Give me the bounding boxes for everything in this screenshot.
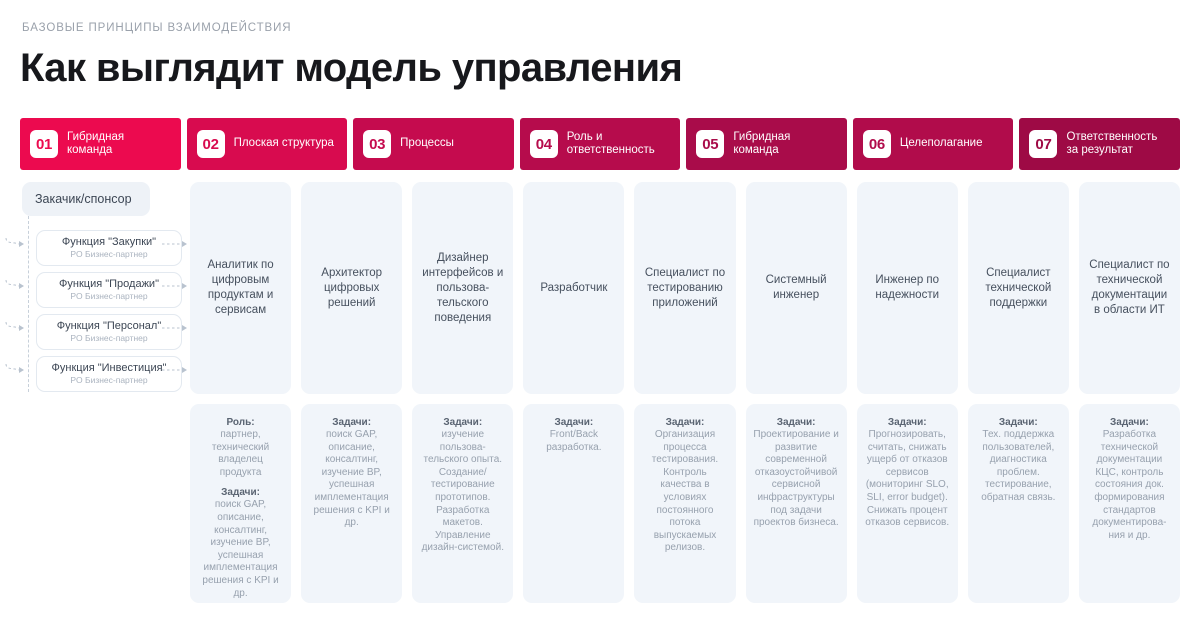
role-columns: Аналитик по цифровым продуктам и сервиса… [190, 182, 1180, 607]
role-title: Архитектор цифровых решений [310, 266, 393, 311]
task-section-heading: Задачи: [530, 416, 617, 429]
task-section-body: Прогнозировать, считать, снижать ущерб о… [864, 429, 951, 530]
role-column: РазработчикЗадачи:Front/Back разработка. [523, 182, 624, 607]
role-column: Системный инженерЗадачи:Проектирование и… [746, 182, 847, 607]
function-title: Функция "Инвестиция" [52, 362, 167, 375]
task-section: Задачи:Разработка технической документац… [1086, 416, 1173, 542]
role-card[interactable]: Разработчик [523, 182, 624, 394]
principle-number-badge: 07 [1029, 130, 1057, 158]
task-section-body: Проектирование и развитие современной от… [753, 429, 840, 530]
principle-label: Ответственность за результат [1066, 131, 1170, 158]
stakeholder-column: Закачик/спонсор Функция "Закупки"PO Бизн… [22, 182, 182, 407]
function-list: Функция "Закупки"PO Бизнес-партнерФункци… [36, 230, 182, 398]
role-card[interactable]: Архитектор цифровых решений [301, 182, 402, 394]
task-section-heading: Задачи: [1086, 416, 1173, 429]
task-section-heading: Задачи: [864, 416, 951, 429]
role-title: Дизайнер интерфейсов и пользова-тельског… [421, 251, 504, 326]
task-section: Задачи:Тех. поддержка пользователей, диа… [975, 416, 1062, 505]
function-box[interactable]: Функция "Закупки"PO Бизнес-партнер [36, 230, 182, 266]
task-card[interactable]: Задачи:Проектирование и развитие совреме… [746, 404, 847, 603]
task-section-body: Front/Back разработка. [530, 429, 617, 454]
task-section-heading: Задачи: [753, 416, 840, 429]
role-title: Специалист по технической документации в… [1088, 258, 1171, 318]
role-card[interactable]: Специалист по тестированию приложений [634, 182, 735, 394]
task-section-body: Тех. поддержка пользователей, диагностик… [975, 429, 1062, 505]
task-card[interactable]: Задачи:Разработка технической документац… [1079, 404, 1180, 603]
function-subtitle: PO Бизнес-партнер [70, 375, 147, 386]
task-card[interactable]: Задачи:изучение пользова-тельского опыта… [412, 404, 513, 603]
function-title: Функция "Закупки" [62, 236, 156, 249]
principle-number-badge: 02 [197, 130, 225, 158]
principle-card-03[interactable]: 03Процессы [353, 118, 514, 170]
task-section: Задачи:изучение пользова-тельского опыта… [419, 416, 506, 555]
task-section-body: поиск GAP, описание, консалтинг, изучени… [308, 429, 395, 530]
task-card[interactable]: Задачи:Организация процесса тестирования… [634, 404, 735, 603]
principle-number-badge: 06 [863, 130, 891, 158]
role-title: Инженер по надежности [866, 273, 949, 303]
task-card[interactable]: Задачи:Тех. поддержка пользователей, диа… [968, 404, 1069, 603]
page-title: Как выглядит модель управления [20, 46, 682, 91]
task-section: Задачи:Прогнозировать, считать, снижать … [864, 416, 951, 530]
principle-number-badge: 04 [530, 130, 558, 158]
function-box[interactable]: Функция "Продажи"PO Бизнес-партнер [36, 272, 182, 308]
principle-card-04[interactable]: 04Роль и ответственность [520, 118, 681, 170]
task-card[interactable]: Роль:партнер, технический владелец проду… [190, 404, 291, 603]
principle-label: Процессы [400, 137, 454, 151]
function-title: Функция "Продажи" [59, 278, 159, 291]
model-body: Закачик/спонсор Функция "Закупки"PO Бизн… [0, 182, 1200, 612]
role-title: Разработчик [540, 281, 607, 296]
principle-label: Плоская структура [234, 137, 334, 151]
task-section-heading: Задачи: [308, 416, 395, 429]
task-section-heading: Задачи: [641, 416, 728, 429]
sponsor-label: Закачик/спонсор [35, 192, 132, 206]
principle-card-07[interactable]: 07Ответственность за результат [1019, 118, 1180, 170]
sponsor-box: Закачик/спонсор [22, 182, 150, 216]
principle-card-06[interactable]: 06Целеполагание [853, 118, 1014, 170]
task-section-heading: Задачи: [197, 486, 284, 499]
task-section: Задачи:поиск GAP, описание, консалтинг, … [308, 416, 395, 530]
principle-number-badge: 03 [363, 130, 391, 158]
task-section: Задачи:поиск GAP, описание, консалтинг, … [197, 486, 284, 600]
principle-label: Роль и ответственность [567, 131, 671, 158]
task-section-body: изучение пользова-тельского опыта. Созда… [419, 429, 506, 555]
role-column: Специалист по технической документации в… [1079, 182, 1180, 607]
role-column: Архитектор цифровых решенийЗадачи:поиск … [301, 182, 402, 607]
role-card[interactable]: Дизайнер интерфейсов и пользова-тельског… [412, 182, 513, 394]
role-column: Аналитик по цифровым продуктам и сервиса… [190, 182, 291, 607]
task-card[interactable]: Задачи:Прогнозировать, считать, снижать … [857, 404, 958, 603]
role-card[interactable]: Специалист по технической документации в… [1079, 182, 1180, 394]
function-subtitle: PO Бизнес-партнер [70, 333, 147, 344]
principle-label: Гибридная команда [733, 131, 837, 158]
role-column: Специалист по тестированию приложенийЗад… [634, 182, 735, 607]
eyebrow-label: БАЗОВЫЕ ПРИНЦИПЫ ВЗАИМОДЕЙСТВИЯ [22, 22, 292, 34]
principle-card-05[interactable]: 05Гибридная команда [686, 118, 847, 170]
infographic-page: БАЗОВЫЕ ПРИНЦИПЫ ВЗАИМОДЕЙСТВИЯ Как выгл… [0, 0, 1200, 630]
role-column: Специалист технической поддержкиЗадачи:Т… [968, 182, 1069, 607]
role-title: Системный инженер [755, 273, 838, 303]
task-section-heading: Задачи: [419, 416, 506, 429]
task-card[interactable]: Задачи:поиск GAP, описание, консалтинг, … [301, 404, 402, 603]
task-section-body: поиск GAP, описание, консалтинг, изучени… [197, 499, 284, 600]
role-title: Аналитик по цифровым продуктам и сервиса… [199, 258, 282, 318]
role-title: Специалист технической поддержки [977, 266, 1060, 311]
principle-card-02[interactable]: 02Плоская структура [187, 118, 348, 170]
task-section: Задачи:Проектирование и развитие совреме… [753, 416, 840, 530]
task-section-body: партнер, технический владелец продукта [197, 429, 284, 479]
principle-number-badge: 01 [30, 130, 58, 158]
role-card[interactable]: Инженер по надежности [857, 182, 958, 394]
principle-label: Гибридная команда [67, 131, 171, 158]
function-subtitle: PO Бизнес-партнер [70, 249, 147, 260]
role-card[interactable]: Аналитик по цифровым продуктам и сервиса… [190, 182, 291, 394]
task-section-heading: Задачи: [975, 416, 1062, 429]
role-card[interactable]: Специалист технической поддержки [968, 182, 1069, 394]
principles-strip: 01Гибридная команда02Плоская структура03… [20, 118, 1180, 170]
task-section-body: Организация процесса тестирования. Контр… [641, 429, 728, 555]
role-column: Дизайнер интерфейсов и пользова-тельског… [412, 182, 513, 607]
role-card[interactable]: Системный инженер [746, 182, 847, 394]
principle-card-01[interactable]: 01Гибридная команда [20, 118, 181, 170]
function-box[interactable]: Функция "Персонал"PO Бизнес-партнер [36, 314, 182, 350]
task-section: Роль:партнер, технический владелец проду… [197, 416, 284, 479]
principle-label: Целеполагание [900, 137, 983, 151]
task-section: Задачи:Организация процесса тестирования… [641, 416, 728, 555]
stakeholder-connector-line [28, 216, 29, 392]
task-section-heading: Роль: [197, 416, 284, 429]
function-title: Функция "Персонал" [57, 320, 162, 333]
task-section: Задачи:Front/Back разработка. [530, 416, 617, 454]
role-title: Специалист по тестированию приложений [643, 266, 726, 311]
role-column: Инженер по надежностиЗадачи:Прогнозирова… [857, 182, 958, 607]
function-subtitle: PO Бизнес-партнер [70, 291, 147, 302]
task-section-body: Разработка технической документации КЦС,… [1086, 429, 1173, 542]
function-box[interactable]: Функция "Инвестиция"PO Бизнес-партнер [36, 356, 182, 392]
principle-number-badge: 05 [696, 130, 724, 158]
task-card[interactable]: Задачи:Front/Back разработка. [523, 404, 624, 603]
